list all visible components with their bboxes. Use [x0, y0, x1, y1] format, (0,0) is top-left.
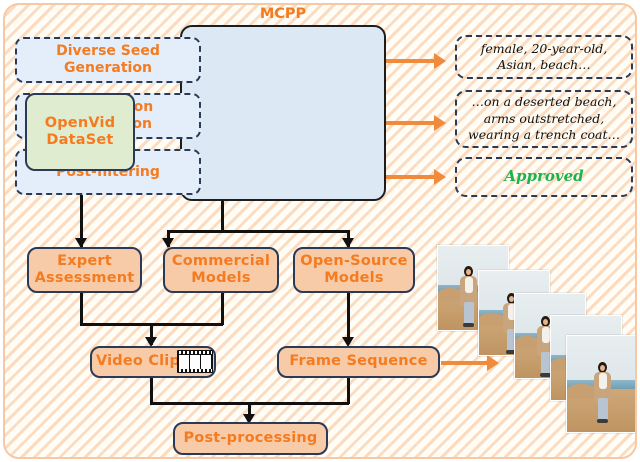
connector-videoclip-down — [150, 378, 153, 404]
connector-commercial-down — [221, 293, 224, 325]
connector-frames-down — [347, 378, 350, 404]
mcpp-container — [180, 25, 386, 201]
mcpp-item-diverse-seed-generation[interactable]: Diverse Seed Generation — [15, 37, 201, 83]
node-frame-sequence[interactable]: Frame Sequence — [277, 346, 440, 378]
node-label: Open-Source Models — [300, 253, 407, 287]
node-open-source-models[interactable]: Open-Source Models — [293, 247, 415, 293]
orange-arrow-postfilter — [386, 172, 448, 181]
node-label: Post-processing — [183, 430, 317, 447]
orange-arrow-frames-to-thumbnails — [441, 358, 503, 367]
prompt-box-seed-output: female, 20-year-old, Asian, beach… — [455, 35, 633, 79]
connector-expert-down — [80, 293, 83, 325]
figure-canvas: MCPP Diverse Seed Generation Description… — [3, 3, 637, 459]
prompt-box-approved: Approved — [455, 157, 633, 197]
node-commercial-models[interactable]: Commercial Models — [163, 247, 279, 293]
prompt-text: female, 20-year-old, Asian, beach… — [481, 41, 607, 74]
prompt-text: …on a deserted beach, arms outstretched,… — [468, 94, 620, 144]
node-label: Frame Sequence — [289, 353, 427, 370]
prompt-box-description-output: …on a deserted beach, arms outstretched,… — [455, 90, 633, 148]
connector-opensource-to-frames — [347, 293, 350, 338]
node-openvid-dataset[interactable]: OpenVid DataSet — [25, 93, 135, 171]
film-strip-icon — [177, 350, 213, 373]
orange-arrow-seed — [386, 56, 448, 65]
connector-mcpp-split — [167, 230, 349, 233]
node-label: OpenVid DataSet — [45, 115, 116, 149]
thumbnail-frame — [566, 335, 637, 433]
node-label: Commercial Models — [172, 253, 270, 287]
mcpp-item-label: Diverse Seed Generation — [56, 43, 160, 76]
node-post-processing[interactable]: Post-processing — [173, 422, 328, 455]
node-label: Expert Assessment — [35, 253, 135, 287]
connector-mcpp-trunk — [221, 201, 224, 233]
orange-arrow-description — [386, 118, 448, 127]
node-expert-assessment[interactable]: Expert Assessment — [27, 247, 142, 293]
mcpp-title: MCPP — [180, 6, 386, 22]
node-label: Video Clip — [96, 353, 180, 370]
figure-root: MCPP Diverse Seed Generation Description… — [0, 0, 640, 462]
prompt-text: Approved — [504, 167, 583, 187]
